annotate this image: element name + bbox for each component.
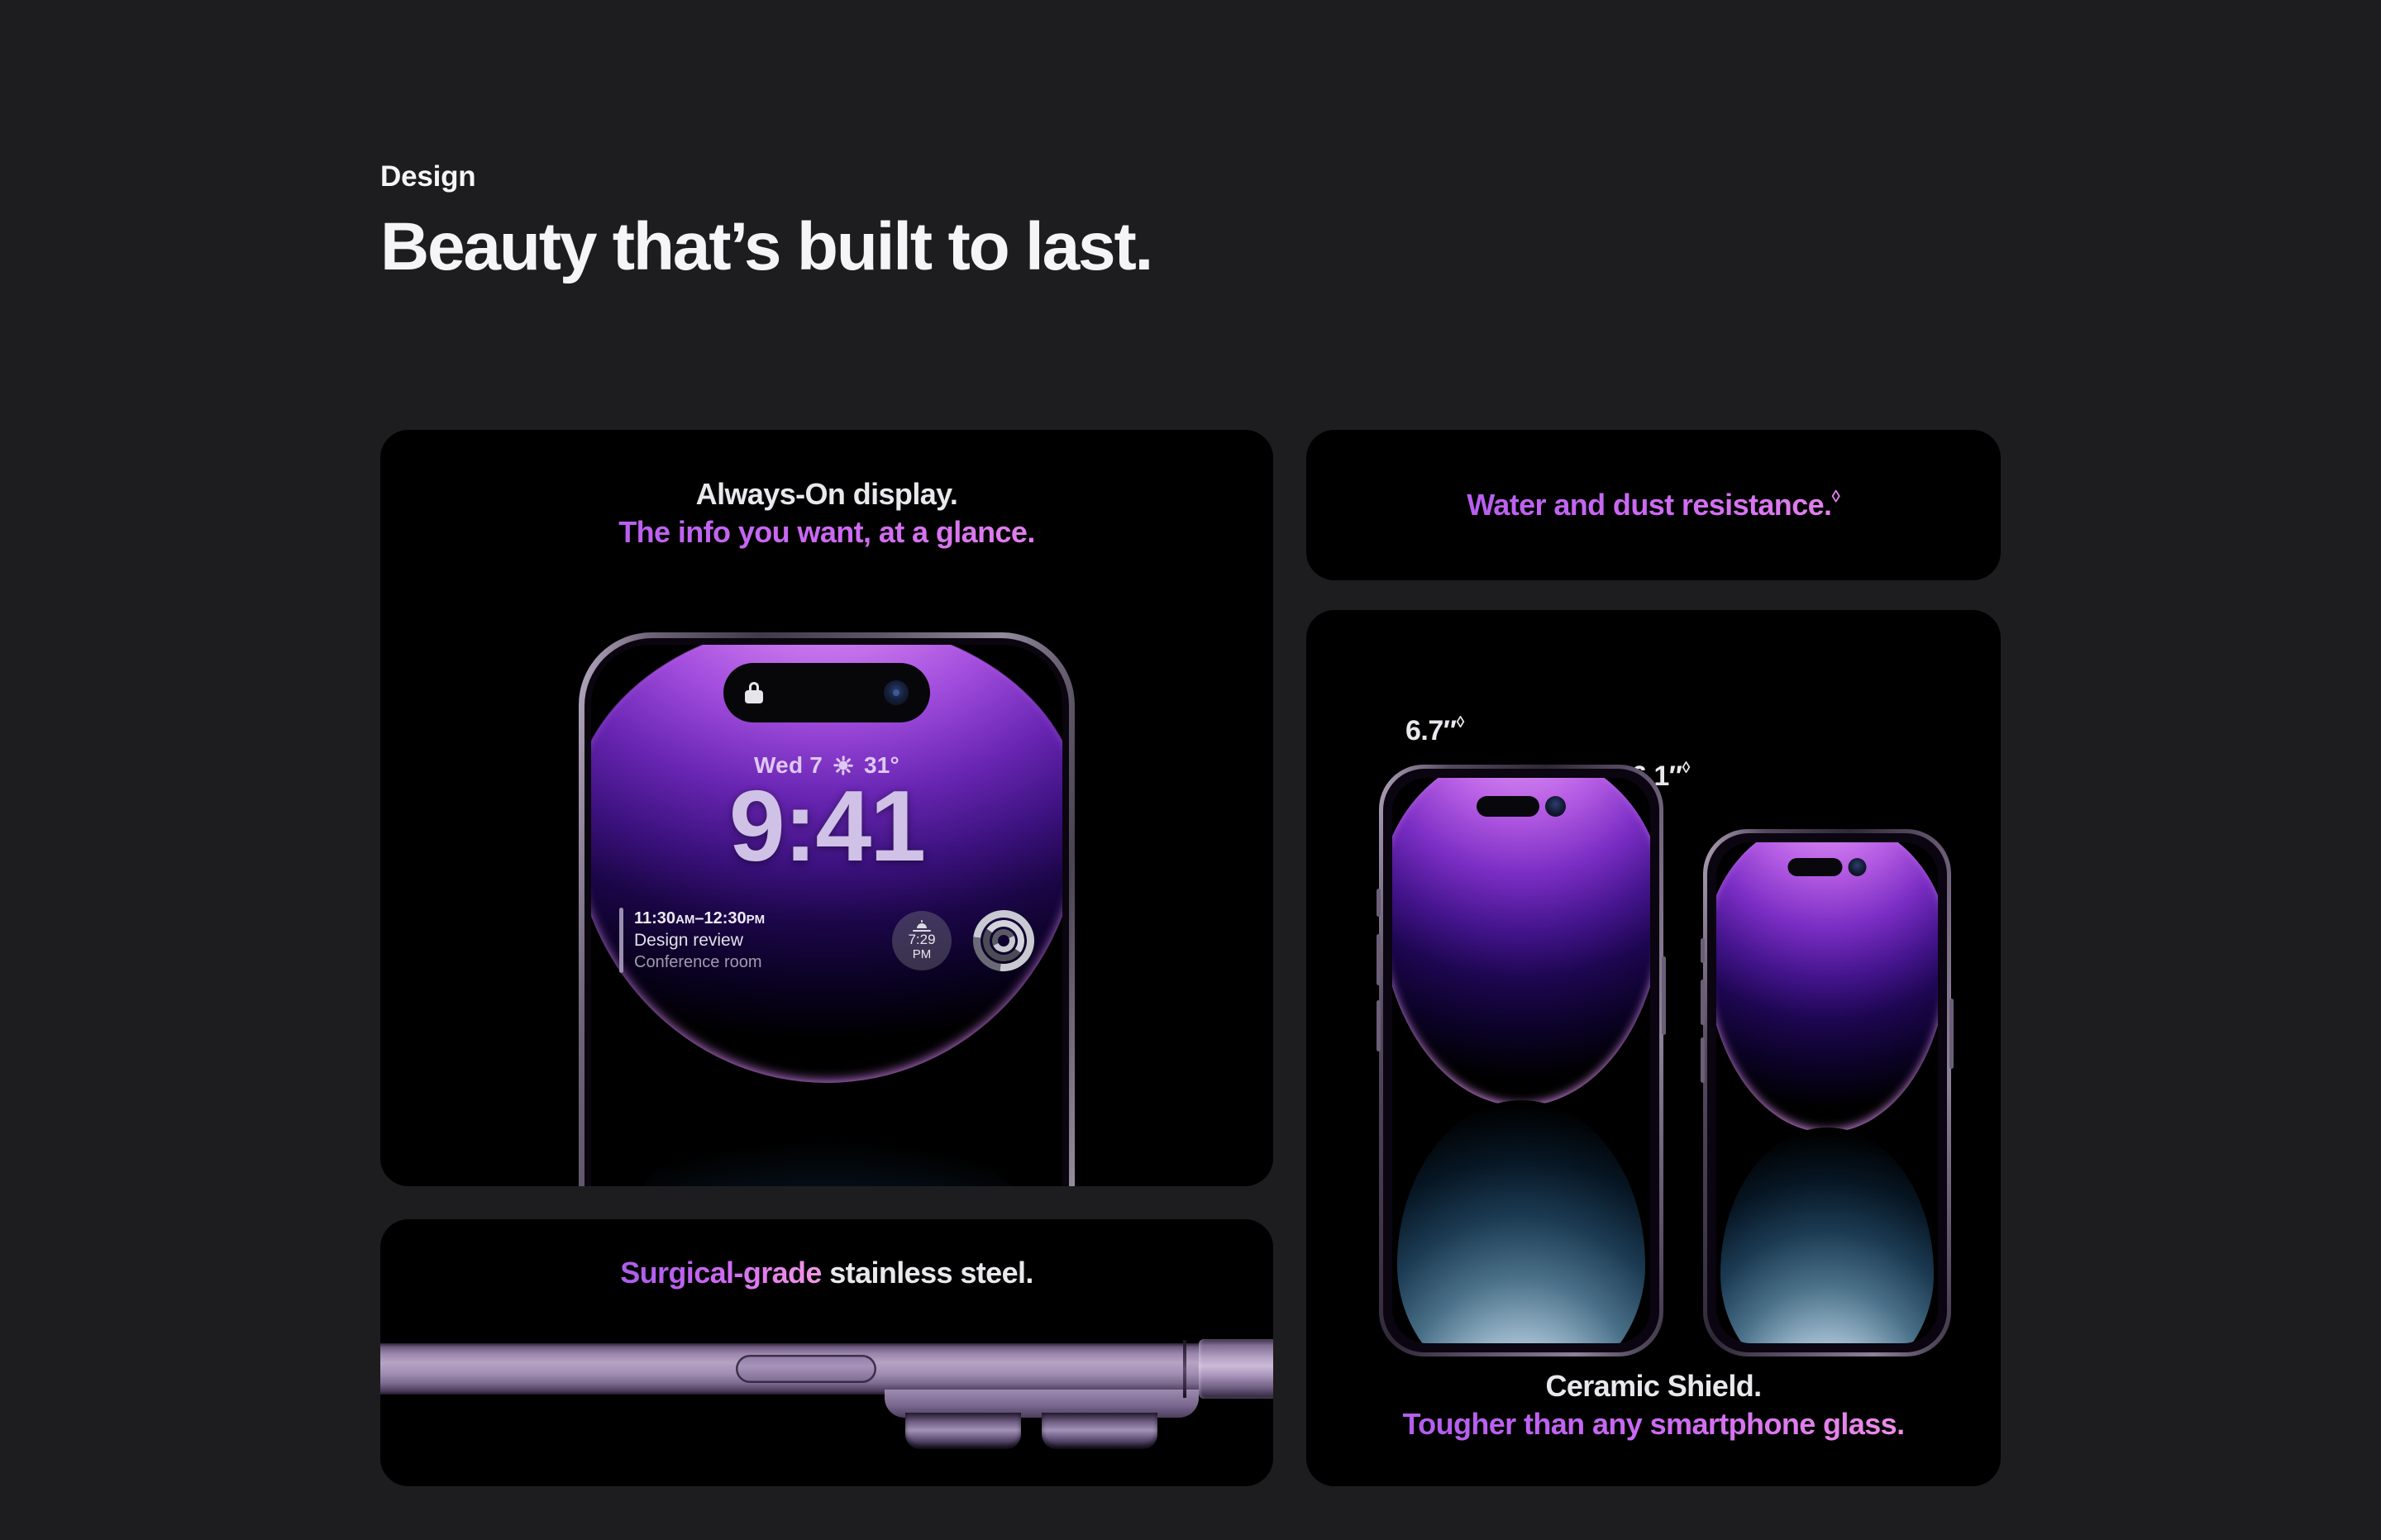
stainless-steel-caption-rest: stainless steel. [822, 1256, 1033, 1290]
iphone-lock-screen-image: Wed 7 31° 9:41 [579, 632, 1075, 1186]
volume-down-button [1701, 1037, 1705, 1083]
wallpaper-reflection [1720, 1128, 1933, 1343]
sunset-widget[interactable]: 7:29 PM [892, 911, 952, 970]
calendar-accent-bar [619, 908, 623, 973]
camera-lens [1042, 1413, 1157, 1449]
dynamic-island [723, 663, 930, 722]
wallpaper-dome-edge [1392, 778, 1650, 1106]
size-label-large: 6.7″◊ [1405, 713, 1464, 747]
ceramic-shield-caption-line1: Ceramic Shield. [1306, 1367, 2001, 1405]
sunset-period: PM [913, 948, 932, 961]
footnote-marker: ◊ [1457, 713, 1465, 732]
ceramic-shield-caption-line2: Tougher than any smartphone glass. [1306, 1405, 2001, 1443]
section-header: Design Beauty that’s built to last. [380, 161, 1152, 283]
calendar-event-time: 11:30AM–12:30PM [634, 908, 765, 929]
phone-screen [1392, 778, 1650, 1343]
steel-band-corner [1199, 1339, 1273, 1399]
page-title: Beauty that’s built to last. [380, 212, 1152, 283]
card-ceramic-shield[interactable]: 6.7″◊ 6.1″◊ [1306, 610, 2001, 1486]
phone-screen: Wed 7 31° 9:41 [591, 645, 1062, 1186]
phone-bezel [1707, 833, 1947, 1352]
volume-up-button [1377, 934, 1381, 985]
ceramic-shield-caption: Ceramic Shield. Tougher than any smartph… [1306, 1367, 2001, 1443]
footnote-marker: ◊ [1831, 487, 1839, 506]
lock-screen-clock: 9:41 [591, 775, 1062, 876]
front-camera-icon [1545, 796, 1566, 817]
stainless-steel-caption-highlight: Surgical-grade [620, 1256, 822, 1290]
side-button [1662, 956, 1666, 1035]
card-stainless-steel[interactable]: Surgical-grade stainless steel. [380, 1219, 1273, 1486]
always-on-caption-line1: Always-On display. [380, 475, 1273, 513]
side-button [1949, 999, 1954, 1069]
wallpaper-reflection [610, 1091, 1043, 1186]
front-camera-icon [884, 680, 909, 705]
activity-rings-icon[interactable] [973, 910, 1034, 971]
volume-down-button [1377, 1000, 1381, 1051]
always-on-caption-line2: The info you want, at a glance. [380, 513, 1273, 551]
card-water-dust-resistance[interactable]: Water and dust resistance.◊ [1306, 430, 2001, 580]
calendar-widget[interactable]: 11:30AM–12:30PM Design review Conference… [619, 908, 871, 973]
water-dust-caption: Water and dust resistance.◊ [1306, 430, 2001, 580]
iphone-side-edge-image [380, 1343, 1273, 1486]
lock-icon [745, 682, 763, 703]
section-eyebrow: Design [380, 161, 1152, 193]
dynamic-island [1788, 858, 1867, 876]
mute-switch [1701, 938, 1705, 963]
sunset-icon [913, 920, 931, 932]
phone-screen [1716, 842, 1938, 1343]
design-section: Design Beauty that’s built to last. Alwa… [0, 0, 2381, 1540]
iphone-size-comparison-image: 6.7″◊ 6.1″◊ [1306, 713, 2001, 1366]
front-camera-icon [1849, 858, 1867, 876]
iphone-67-inch [1379, 765, 1663, 1356]
volume-up-button [1701, 980, 1705, 1025]
antenna-seam [1183, 1340, 1186, 1398]
volume-button [736, 1355, 876, 1383]
calendar-event-location: Conference room [634, 951, 765, 973]
camera-lens [905, 1413, 1021, 1449]
dynamic-island [1477, 796, 1566, 817]
card-always-on-display[interactable]: Always-On display. The info you want, at… [380, 430, 1273, 1186]
always-on-caption: Always-On display. The info you want, at… [380, 475, 1273, 551]
calendar-event-title: Design review [634, 929, 765, 951]
wallpaper-reflection [1397, 1100, 1645, 1343]
sunset-time: 7:29 [908, 932, 935, 947]
water-dust-caption-text: Water and dust resistance. [1467, 488, 1831, 522]
footnote-marker: ◊ [1682, 759, 1691, 777]
stainless-steel-caption: Surgical-grade stainless steel. [380, 1254, 1273, 1292]
wallpaper-dome-edge [1716, 842, 1938, 1132]
lock-screen-widgets: 11:30AM–12:30PM Design review Conference… [619, 908, 1034, 973]
phone-bezel [1383, 769, 1659, 1352]
mute-switch [1377, 889, 1381, 917]
iphone-61-inch [1703, 829, 1951, 1356]
